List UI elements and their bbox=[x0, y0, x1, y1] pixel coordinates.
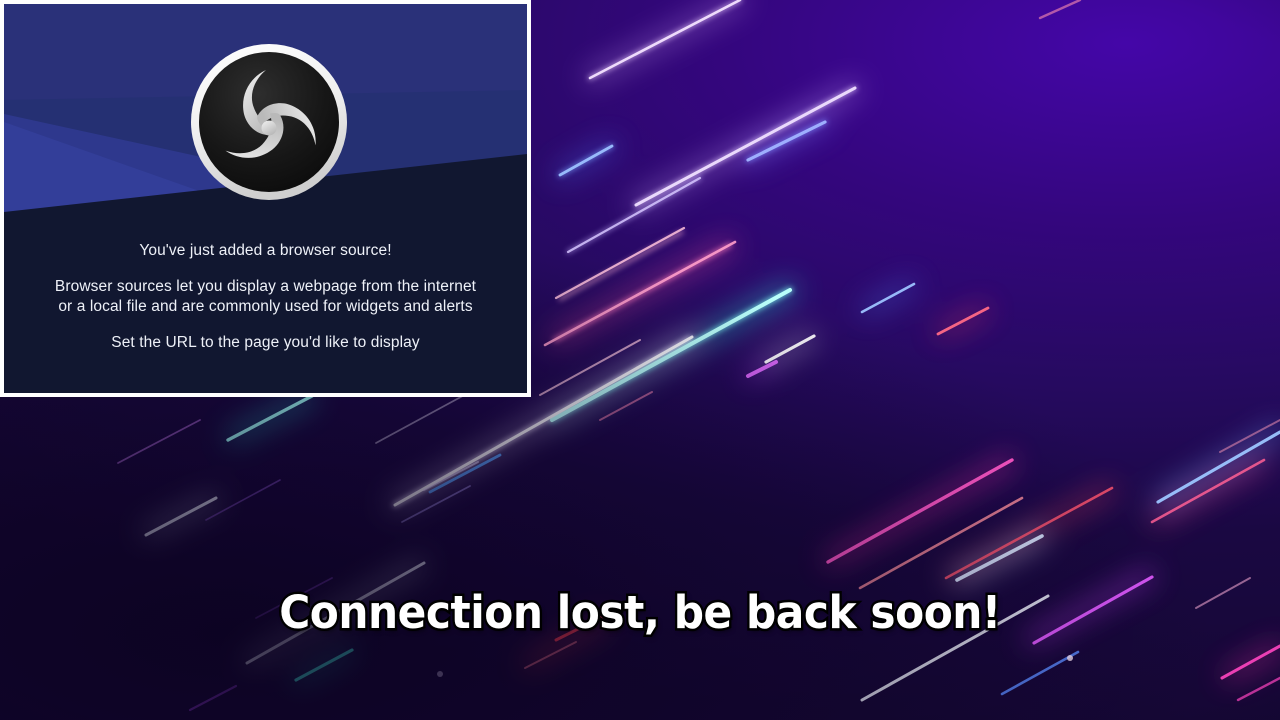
obs-paragraph-line-1: Browser sources let you display a webpag… bbox=[8, 277, 523, 297]
obs-studio-logo bbox=[187, 40, 351, 204]
obs-panel-copy: You've just added a browser source! Brow… bbox=[8, 232, 523, 353]
stream-overlay-canvas: You've just added a browser source! Brow… bbox=[0, 0, 1280, 720]
obs-heading: You've just added a browser source! bbox=[8, 241, 523, 261]
obs-paragraph-2: Set the URL to the page you'd like to di… bbox=[8, 333, 523, 353]
overlay-headline: Connection lost, be back soon! bbox=[38, 586, 1241, 640]
obs-paragraph-line-2: or a local file and are commonly used fo… bbox=[8, 297, 523, 317]
obs-browser-source-panel: You've just added a browser source! Brow… bbox=[0, 0, 531, 397]
obs-logo-mark bbox=[187, 40, 351, 204]
